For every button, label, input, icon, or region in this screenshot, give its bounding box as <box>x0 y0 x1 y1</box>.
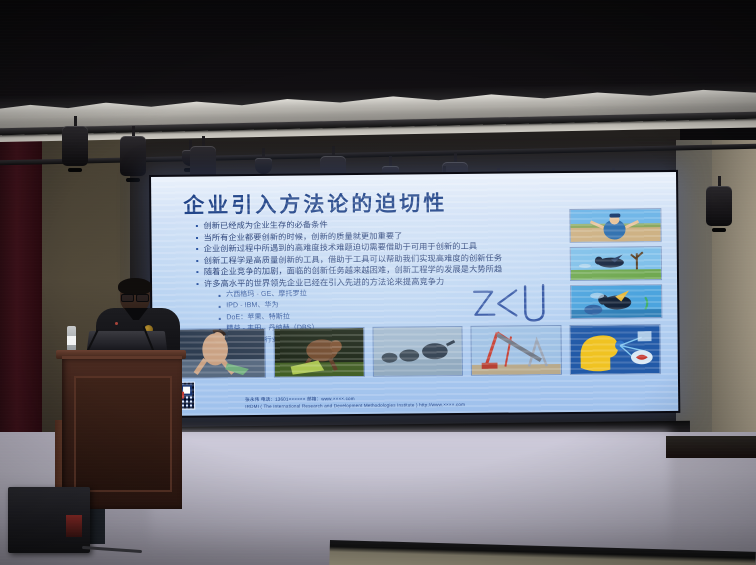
slide-image-5: 智力工具 <box>570 324 661 375</box>
bullet-text: 许多高水平的世界领先企业已经在引入先进的方法论来提高竞争力 <box>204 276 444 290</box>
spotlight-icon <box>62 116 88 172</box>
laptop <box>87 331 168 352</box>
sub-bullet-text: 六西格玛 - GE、摩托罗拉 <box>226 289 307 300</box>
slide-cartoon-column <box>569 208 662 319</box>
presentation-slide: 企业引入方法论的迫切性 ▪ 创新已经成为企业生存的必备条件 ▪ 当所有企业都要创… <box>151 172 678 416</box>
cartoon-panel-3 <box>570 284 662 319</box>
sub-bullet-text: IPD - IBM、华为 <box>226 301 279 312</box>
slide-image-4: 机械工具 <box>471 325 562 376</box>
floor-light-reflection <box>150 432 670 552</box>
slide-image-2: 原始工具 <box>273 327 364 378</box>
screenshot-root: 企业引入方法论的迫切性 ▪ 创新已经成为企业生存的必备条件 ▪ 当所有企业都要创… <box>0 0 756 565</box>
podium-front-panel <box>74 376 172 492</box>
bullet-dot-icon: ▪ <box>218 290 221 302</box>
glasses-icon <box>121 294 149 300</box>
floor-speaker <box>8 487 90 553</box>
spotlight-icon <box>706 176 732 232</box>
right-wall-base <box>666 436 756 458</box>
podium-group <box>60 278 210 488</box>
slide-footer-line2: IRDMI ( The International Research and D… <box>245 401 465 410</box>
bullet-dot-icon: ▪ <box>196 244 199 256</box>
sub-bullet-text: DoE：苹果、特斯拉 <box>226 312 290 323</box>
presenter-badge-secondary <box>115 322 118 325</box>
spotlight-icon <box>120 126 146 182</box>
slide-image-strip: 人工工具 原始工具 <box>174 324 661 387</box>
water-bottle <box>67 326 76 352</box>
slide-footer: 张永伟 电话：13601×××××× 邮箱：www.××××.com IRDMI… <box>245 394 465 410</box>
bullet-dot-icon: ▪ <box>196 267 199 279</box>
cartoon-panel-1 <box>569 208 661 243</box>
stage-curtain <box>0 118 42 458</box>
led-video-wall[interactable]: 企业引入方法论的迫切性 ▪ 创新已经成为企业生存的必备条件 ▪ 当所有企业都要创… <box>149 170 680 418</box>
bullet-dot-icon: ▪ <box>218 301 221 313</box>
cartoon-panel-2 <box>570 246 662 281</box>
handwritten-annotation-icon <box>470 281 548 326</box>
bullet-dot-icon: ▪ <box>196 255 199 267</box>
slide-image-3: 马拉工具 <box>372 326 463 377</box>
bullet-dot-icon: ▪ <box>218 313 221 325</box>
presenter-hair <box>118 278 152 295</box>
bullet-dot-icon: ▪ <box>195 221 198 233</box>
slide-title: 企业引入方法论的迫切性 <box>183 187 447 220</box>
speaker-badge <box>66 515 82 537</box>
bullet-dot-icon: ▪ <box>196 232 199 244</box>
